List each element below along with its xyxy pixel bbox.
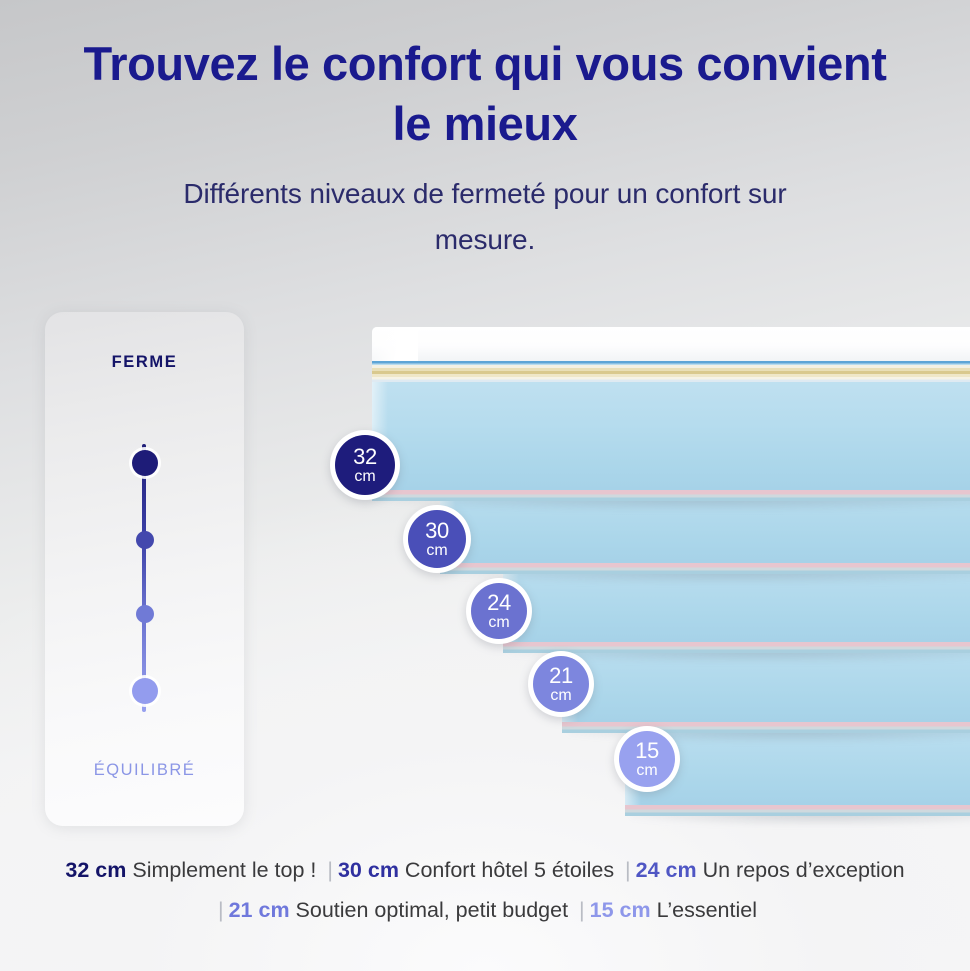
height-badge-30cm[interactable]: 30cm [403,505,471,573]
height-badge-24cm[interactable]: 24cm [466,578,532,644]
mattress-core [372,382,970,490]
mattress-base-layer [625,805,970,816]
height-badge-unit: cm [354,469,375,485]
height-badge-face: 24cm [471,583,527,639]
legend-separator: | [322,858,338,882]
legend-height-15cm: 15 cm [590,898,651,922]
height-badge-value: 21 [549,665,573,687]
height-badge-value: 24 [487,592,511,614]
mattress-base-layer [562,722,970,733]
height-badge-15cm[interactable]: 15cm [614,726,680,792]
mattress-top-surface [372,327,970,361]
firmness-dot-1[interactable] [132,450,158,476]
height-badge-unit: cm [488,615,509,631]
legend: 32 cm Simplement le top ! |30 cm Confort… [0,850,970,930]
mattress-top-bevel [372,327,418,361]
page-subtitle: Différents niveaux de fermeté pour un co… [0,171,970,263]
legend-height-21cm: 21 cm [229,898,290,922]
legend-description: Simplement le top ! [126,858,322,882]
firmness-scale-line [142,444,146,712]
header: Trouvez le confort qui vous convient le … [0,34,970,263]
mattress-comfort-layers [372,361,970,382]
legend-height-24cm: 24 cm [636,858,697,882]
height-badge-face: 21cm [533,656,589,712]
firmness-label-firm: FERME [45,353,244,372]
firmness-dot-4[interactable] [132,678,158,704]
mattress-base-layer [503,642,970,653]
legend-height-32cm: 32 cm [65,858,126,882]
firmness-label-balanced: ÉQUILIBRÉ [45,761,244,780]
mattress-base-layer [440,563,970,574]
firmness-scale [45,422,244,732]
legend-description: Un repos d’exception [697,858,905,882]
mattress-32cm [372,327,970,501]
firmness-scale-card: FERME ÉQUILIBRÉ [45,312,244,826]
firmness-dot-2[interactable] [136,531,154,549]
height-badge-21cm[interactable]: 21cm [528,651,594,717]
page-title: Trouvez le confort qui vous convient le … [0,34,970,154]
height-badge-value: 15 [635,740,659,762]
height-badge-face: 30cm [408,510,466,568]
height-badge-32cm[interactable]: 32cm [330,430,400,500]
promo-graphic: Trouvez le confort qui vous convient le … [0,0,970,971]
legend-description: L’essentiel [651,898,757,922]
legend-height-30cm: 30 cm [338,858,399,882]
height-badge-unit: cm [426,543,447,559]
legend-description: Soutien optimal, petit budget [290,898,574,922]
legend-separator: | [213,898,229,922]
height-badge-unit: cm [550,688,571,704]
height-badge-value: 32 [353,446,377,468]
legend-separator: | [574,898,590,922]
height-badge-value: 30 [425,520,449,542]
mattress-base-layer [372,490,970,501]
height-badge-unit: cm [636,763,657,779]
height-badge-face: 32cm [335,435,395,495]
legend-description: Confort hôtel 5 étoiles [399,858,620,882]
legend-separator: | [620,858,636,882]
firmness-dot-3[interactable] [136,605,154,623]
height-badge-face: 15cm [619,731,675,787]
